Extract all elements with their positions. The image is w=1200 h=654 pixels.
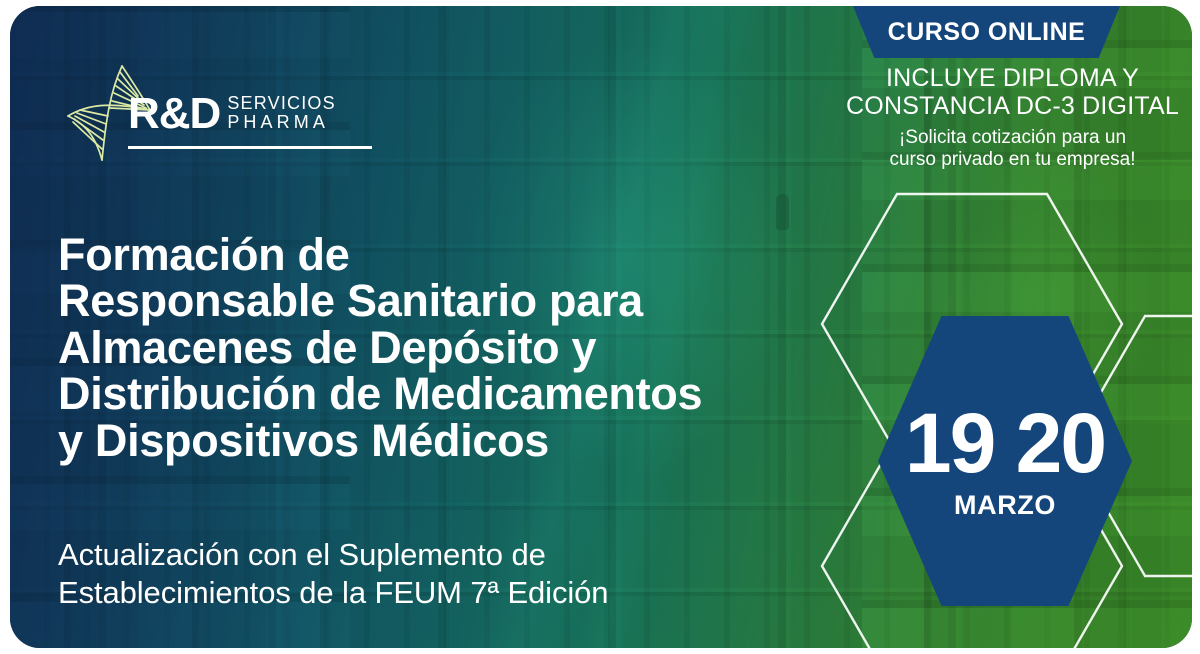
brand-logo[interactable]: R&D SERVICIOS PHARMA — [66, 58, 366, 168]
course-title: Formación de Responsable Sanitario para … — [58, 232, 858, 464]
logo-pharma-text: PHARMA — [227, 113, 336, 132]
banner-canvas: CURSO ONLINE INCLUYE DIPLOMA Y CONSTANCI… — [10, 6, 1192, 648]
logo-rd-text: R&D — [128, 92, 220, 135]
course-subtitle: Actualización con el Suplemento de Estab… — [58, 536, 818, 613]
logo-descriptor: SERVICIOS PHARMA — [227, 94, 336, 133]
curso-online-ribbon: CURSO ONLINE — [853, 6, 1120, 58]
logo-servicios-text: SERVICIOS — [227, 94, 336, 113]
promo-text-block: INCLUYE DIPLOMA Y CONSTANCIA DC-3 DIGITA… — [830, 64, 1192, 171]
logo-wordmark: R&D SERVICIOS PHARMA — [128, 92, 336, 135]
date-month: MARZO — [954, 490, 1056, 521]
logo-underline-rule — [128, 146, 372, 149]
promo-banner: CURSO ONLINE INCLUYE DIPLOMA Y CONSTANCI… — [0, 0, 1200, 654]
ribbon-label: CURSO ONLINE — [888, 18, 1086, 47]
date-days: 19 20 — [905, 405, 1105, 482]
promo-subline: ¡Solicita cotización para un curso priva… — [830, 127, 1192, 171]
promo-headline: INCLUYE DIPLOMA Y CONSTANCIA DC-3 DIGITA… — [830, 64, 1192, 121]
